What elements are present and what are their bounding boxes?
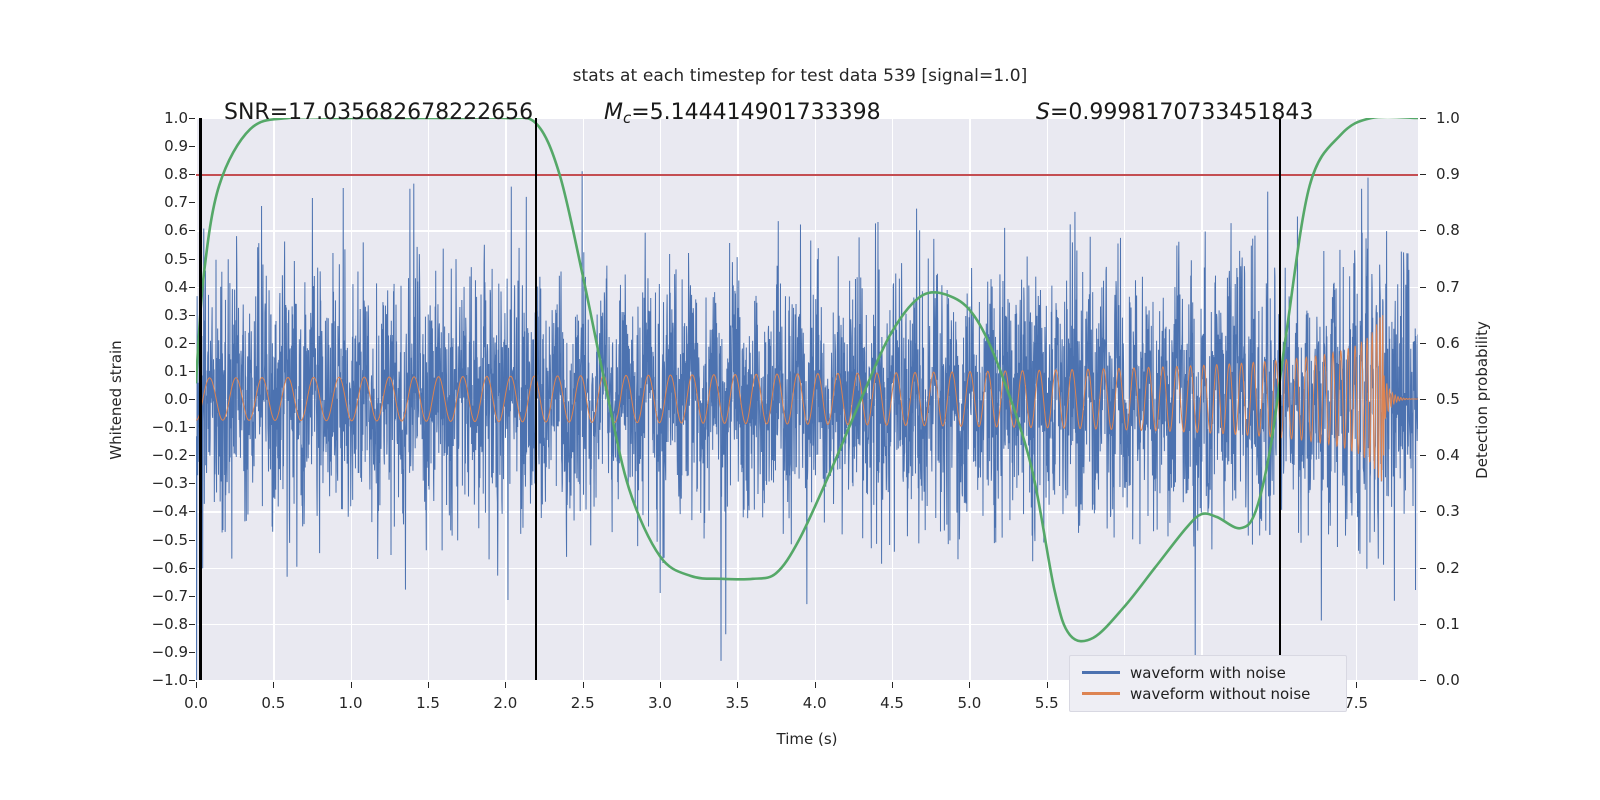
- y-axis-right-tick-mark: [1420, 399, 1426, 400]
- x-axis-tick-label: 3.5: [697, 694, 777, 712]
- y-axis-right-tick-mark: [1420, 230, 1426, 231]
- y-axis-left-tick-label: 0.0: [68, 390, 188, 408]
- y-axis-right-tick-label: 0.5: [1436, 390, 1556, 408]
- x-axis-tick-mark: [969, 682, 970, 688]
- x-axis-tick-label: 0.5: [233, 694, 313, 712]
- y-axis-right-tick-mark: [1420, 118, 1426, 119]
- y-axis-left-tick-mark: [189, 680, 195, 681]
- x-axis-tick-mark: [196, 682, 197, 688]
- x-axis-tick-mark: [505, 682, 506, 688]
- y-axis-left-tick-label: −0.1: [68, 418, 188, 436]
- y-axis-left-tick-label: 0.6: [68, 221, 188, 239]
- y-axis-right-tick-label: 0.0: [1436, 671, 1556, 689]
- x-axis-tick-mark: [737, 682, 738, 688]
- y-axis-right-tick-label: 0.4: [1436, 446, 1556, 464]
- y-axis-left-tick-mark: [189, 259, 195, 260]
- x-axis-tick-label: 4.0: [775, 694, 855, 712]
- vertical-marker-line: [199, 118, 202, 680]
- legend-item[interactable]: waveform without noise: [1078, 683, 1338, 704]
- y-axis-left-tick-label: 0.8: [68, 165, 188, 183]
- x-axis-tick-label: 1.0: [311, 694, 391, 712]
- y-axis-left-tick-label: −0.9: [68, 643, 188, 661]
- legend-item-label: waveform with noise: [1130, 664, 1286, 682]
- annotation-mc-symbol: M: [604, 100, 623, 125]
- legend[interactable]: waveform with noise waveform without noi…: [1069, 655, 1347, 712]
- annotation-mc-value: 5.144414901733398: [650, 100, 881, 125]
- x-axis-tick-label: 3.0: [620, 694, 700, 712]
- y-axis-left-tick-mark: [189, 540, 195, 541]
- annotation-s-value: 0.9998170733451843: [1068, 100, 1313, 125]
- y-axis-right-tick-label: 0.7: [1436, 278, 1556, 296]
- y-axis-left-tick-label: −0.2: [68, 446, 188, 464]
- y-axis-left-tick-label: 0.9: [68, 137, 188, 155]
- y-axis-right-tick-label: 0.3: [1436, 502, 1556, 520]
- y-axis-right-tick-mark: [1420, 455, 1426, 456]
- legend-color-swatch: [1082, 692, 1120, 695]
- legend-color-swatch: [1082, 671, 1120, 674]
- y-axis-left-tick-label: 0.5: [68, 250, 188, 268]
- y-axis-left-tick-label: 1.0: [68, 109, 188, 127]
- y-axis-left-tick-mark: [189, 427, 195, 428]
- x-axis-tick-mark: [583, 682, 584, 688]
- x-axis-tick-mark: [273, 682, 274, 688]
- y-axis-right-tick-label: 0.2: [1436, 559, 1556, 577]
- y-axis-left-tick-mark: [189, 230, 195, 231]
- plot-area: [196, 118, 1418, 680]
- legend-item-label: waveform without noise: [1130, 685, 1310, 703]
- x-axis-tick-label: 4.5: [852, 694, 932, 712]
- y-axis-left-tick-label: 0.1: [68, 362, 188, 380]
- x-axis-tick-mark: [815, 682, 816, 688]
- y-axis-left-tick-label: −0.5: [68, 531, 188, 549]
- y-axis-left-tick-mark: [189, 596, 195, 597]
- y-axis-left-tick-mark: [189, 202, 195, 203]
- y-axis-left-tick-mark: [189, 568, 195, 569]
- y-axis-right-tick-label: 0.1: [1436, 615, 1556, 633]
- legend-item[interactable]: waveform with noise: [1078, 662, 1338, 683]
- y-axis-right-tick-label: 0.6: [1436, 334, 1556, 352]
- detection-probability-curve: [196, 118, 1418, 680]
- y-axis-right-tick-label: 0.8: [1436, 221, 1556, 239]
- y-axis-right-tick-mark: [1420, 680, 1426, 681]
- x-axis-tick-label: 2.0: [465, 694, 545, 712]
- annotation-mc-subscript: c: [623, 109, 631, 127]
- figure-canvas: stats at each timestep for test data 539…: [0, 0, 1600, 800]
- y-axis-right-tick-mark: [1420, 343, 1426, 344]
- y-axis-left-tick-mark: [189, 399, 195, 400]
- y-axis-left-tick-label: −0.6: [68, 559, 188, 577]
- annotation-snr: SNR=17.035682678222656: [224, 100, 533, 125]
- y-axis-left-tick-mark: [189, 371, 195, 372]
- y-axis-left-tick-label: 0.3: [68, 306, 188, 324]
- x-axis-label: Time (s): [196, 730, 1418, 748]
- y-axis-right-tick-mark: [1420, 287, 1426, 288]
- y-axis-left-tick-mark: [189, 146, 195, 147]
- y-axis-left-tick-label: −0.3: [68, 474, 188, 492]
- y-axis-left-tick-label: −0.8: [68, 615, 188, 633]
- y-axis-left-tick-mark: [189, 118, 195, 119]
- x-axis-tick-label: 5.0: [929, 694, 1009, 712]
- x-axis-tick-mark: [1356, 682, 1357, 688]
- x-axis-tick-mark: [892, 682, 893, 688]
- y-axis-right-tick-label: 0.9: [1436, 165, 1556, 183]
- vertical-marker-line: [535, 118, 538, 680]
- x-axis-tick-label: 1.5: [388, 694, 468, 712]
- x-axis-tick-mark: [428, 682, 429, 688]
- y-axis-left-tick-label: 0.7: [68, 193, 188, 211]
- y-axis-left-tick-label: 0.2: [68, 334, 188, 352]
- x-axis-tick-label: 2.5: [543, 694, 623, 712]
- y-axis-right-tick-mark: [1420, 511, 1426, 512]
- y-axis-left-tick-mark: [189, 343, 195, 344]
- y-axis-left-tick-mark: [189, 455, 195, 456]
- annotation-s-equals: =: [1050, 100, 1068, 125]
- annotation-significance: S=0.9998170733451843: [1036, 100, 1313, 125]
- y-axis-left-tick-label: −0.7: [68, 587, 188, 605]
- x-axis-tick-mark: [1047, 682, 1048, 688]
- y-axis-left-tick-label: −1.0: [68, 671, 188, 689]
- y-axis-right-tick-mark: [1420, 568, 1426, 569]
- y-axis-left-tick-mark: [189, 174, 195, 175]
- x-axis-tick-mark: [660, 682, 661, 688]
- x-axis-tick-mark: [351, 682, 352, 688]
- y-axis-left-tick-mark: [189, 511, 195, 512]
- y-axis-left-tick-mark: [189, 652, 195, 653]
- y-axis-left-tick-label: −0.4: [68, 502, 188, 520]
- figure-title: stats at each timestep for test data 539…: [0, 66, 1600, 86]
- annotation-mc-equals: =: [631, 100, 649, 125]
- y-axis-left-tick-mark: [189, 624, 195, 625]
- y-axis-right-tick-label: 1.0: [1436, 109, 1556, 127]
- annotation-s-symbol: S: [1036, 100, 1050, 125]
- y-axis-right-tick-mark: [1420, 624, 1426, 625]
- x-axis-tick-label: 0.0: [156, 694, 236, 712]
- y-axis-left-tick-label: 0.4: [68, 278, 188, 296]
- annotation-chirp-mass: Mc=5.144414901733398: [604, 100, 881, 127]
- vertical-marker-line: [1279, 118, 1282, 680]
- y-axis-right-tick-mark: [1420, 174, 1426, 175]
- y-axis-left-tick-mark: [189, 315, 195, 316]
- y-axis-left-tick-mark: [189, 287, 195, 288]
- y-axis-left-tick-mark: [189, 483, 195, 484]
